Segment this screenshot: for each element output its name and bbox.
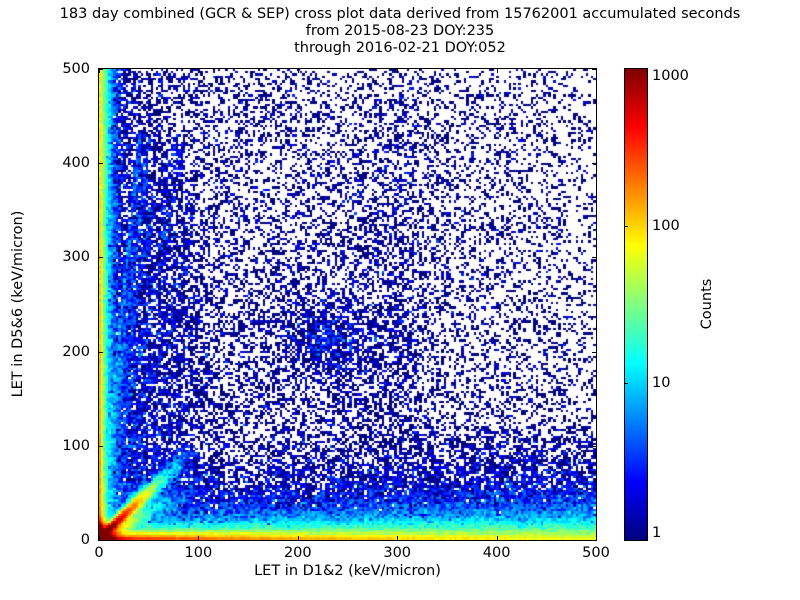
y-tick-right-400 xyxy=(592,163,596,164)
colorbar-tick-label-100: 100 xyxy=(652,218,680,234)
colorbar-tick-100 xyxy=(624,226,628,227)
x-axis-label: LET in D1&2 (keV/micron) xyxy=(98,563,597,579)
y-tick-right-200 xyxy=(592,352,596,353)
y-tick-right-0 xyxy=(592,540,596,541)
x-tick-top-200 xyxy=(298,69,299,73)
x-tick-100 xyxy=(198,536,199,540)
colorbar-tick-label-1: 1 xyxy=(652,525,661,541)
x-tick-label-200: 200 xyxy=(284,545,312,561)
y-tick-label-100: 100 xyxy=(40,438,90,454)
y-tick-right-500 xyxy=(592,69,596,70)
y-tick-400 xyxy=(99,163,103,164)
y-tick-200 xyxy=(99,352,103,353)
y-tick-label-200: 200 xyxy=(40,344,90,360)
x-tick-top-500 xyxy=(596,69,597,73)
x-tick-top-100 xyxy=(198,69,199,73)
x-tick-label-400: 400 xyxy=(483,545,511,561)
x-tick-label-500: 500 xyxy=(582,545,610,561)
y-tick-label-400: 400 xyxy=(40,155,90,171)
colorbar-tick-label-10: 10 xyxy=(652,375,670,391)
chart-title-line-1: 183 day combined (GCR & SEP) cross plot … xyxy=(0,6,800,23)
y-tick-label-0: 0 xyxy=(40,532,90,548)
density-scatter-plot xyxy=(99,69,596,540)
y-tick-right-100 xyxy=(592,446,596,447)
y-tick-500 xyxy=(99,69,103,70)
x-tick-200 xyxy=(298,536,299,540)
x-tick-500 xyxy=(596,536,597,540)
chart-title: 183 day combined (GCR & SEP) cross plot … xyxy=(0,6,800,57)
y-tick-label-500: 500 xyxy=(40,61,90,77)
y-tick-right-300 xyxy=(592,257,596,258)
colorbar-tick-10 xyxy=(624,383,628,384)
y-tick-0 xyxy=(99,540,103,541)
x-tick-300 xyxy=(397,536,398,540)
colorbar-tick-label-1000: 1000 xyxy=(652,68,689,84)
y-tick-100 xyxy=(99,446,103,447)
y-axis-label: LET in D5&6 (keV/micron) xyxy=(10,211,26,398)
x-tick-top-400 xyxy=(497,69,498,73)
x-tick-label-300: 300 xyxy=(383,545,411,561)
x-tick-label-100: 100 xyxy=(185,545,213,561)
colorbar: 1101001000 xyxy=(624,68,648,541)
chart-title-line-3: through 2016-02-21 DOY:052 xyxy=(0,40,800,57)
y-tick-300 xyxy=(99,257,103,258)
x-tick-400 xyxy=(497,536,498,540)
x-tick-label-0: 0 xyxy=(94,545,103,561)
chart-title-line-2: from 2015-08-23 DOY:235 xyxy=(0,23,800,40)
colorbar-label: Counts xyxy=(699,279,715,330)
y-tick-label-300: 300 xyxy=(40,249,90,265)
plot-area xyxy=(98,68,597,541)
figure-canvas: 183 day combined (GCR & SEP) cross plot … xyxy=(0,0,800,600)
x-tick-top-300 xyxy=(397,69,398,73)
colorbar-gradient xyxy=(624,68,648,541)
